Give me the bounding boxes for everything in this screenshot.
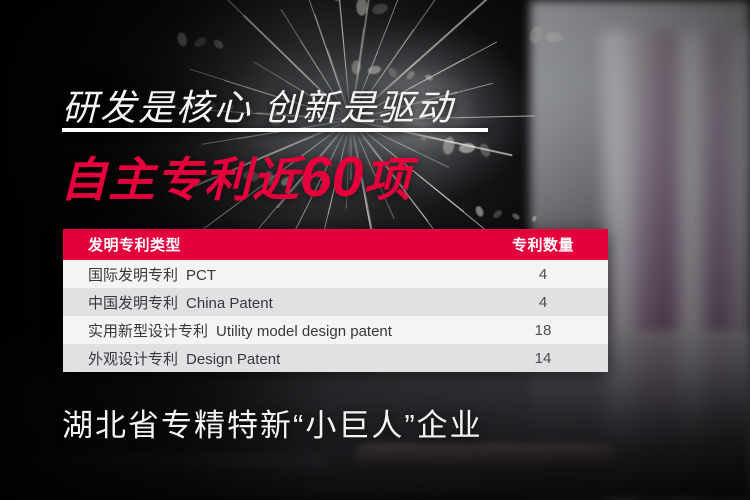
- headline-divider: [62, 128, 488, 132]
- patent-type-english: China Patent: [186, 295, 273, 312]
- headline-primary: 研发是核心 创新是驱动: [62, 79, 454, 131]
- table-cell-count: 4: [478, 294, 608, 311]
- patent-type-english: Design Patent: [186, 351, 280, 368]
- patent-type-chinese: 国际发明专利: [88, 267, 178, 284]
- table-cell-count: 14: [478, 350, 608, 367]
- patent-poster: 研发是核心 创新是驱动 自主专利近60项 发明专利类型 专利数量 国际发明专利P…: [0, 0, 750, 500]
- table-cell-type: 外观设计专利Design Patent: [63, 348, 478, 369]
- patent-type-english: PCT: [186, 267, 216, 284]
- headline-patent-count: 60: [300, 149, 363, 206]
- table-cell-type: 国际发明专利PCT: [63, 264, 478, 285]
- table-cell-type: 实用新型设计专利Utility model design patent: [63, 320, 478, 341]
- poster-content: 研发是核心 创新是驱动 自主专利近60项 发明专利类型 专利数量 国际发明专利P…: [0, 0, 750, 500]
- table-cell-type: 中国发明专利China Patent: [63, 292, 478, 313]
- patent-table: 发明专利类型 专利数量 国际发明专利PCT4中国发明专利China Patent…: [63, 229, 608, 372]
- table-row: 实用新型设计专利Utility model design patent18: [63, 316, 608, 344]
- table-row: 中国发明专利China Patent4: [63, 288, 608, 316]
- headline-secondary-suffix: 项: [363, 141, 411, 210]
- patent-type-chinese: 外观设计专利: [88, 351, 178, 368]
- table-header-row: 发明专利类型 专利数量: [63, 229, 608, 260]
- table-cell-count: 4: [478, 266, 608, 283]
- headline-secondary: 自主专利近60项: [60, 141, 411, 210]
- table-row: 国际发明专利PCT4: [63, 260, 608, 288]
- headline-secondary-prefix: 自主专利近: [60, 141, 300, 210]
- patent-type-chinese: 中国发明专利: [88, 295, 178, 312]
- patent-type-chinese: 实用新型设计专利: [88, 323, 208, 340]
- table-body: 国际发明专利PCT4中国发明专利China Patent4实用新型设计专利Uti…: [63, 260, 608, 372]
- patent-type-english: Utility model design patent: [216, 323, 392, 340]
- table-header-type: 发明专利类型: [63, 234, 478, 255]
- table-cell-count: 18: [478, 322, 608, 339]
- table-row: 外观设计专利Design Patent14: [63, 344, 608, 372]
- footer-tagline: 湖北省专精特新“小巨人”企业: [62, 400, 483, 445]
- table-header-count: 专利数量: [478, 234, 608, 255]
